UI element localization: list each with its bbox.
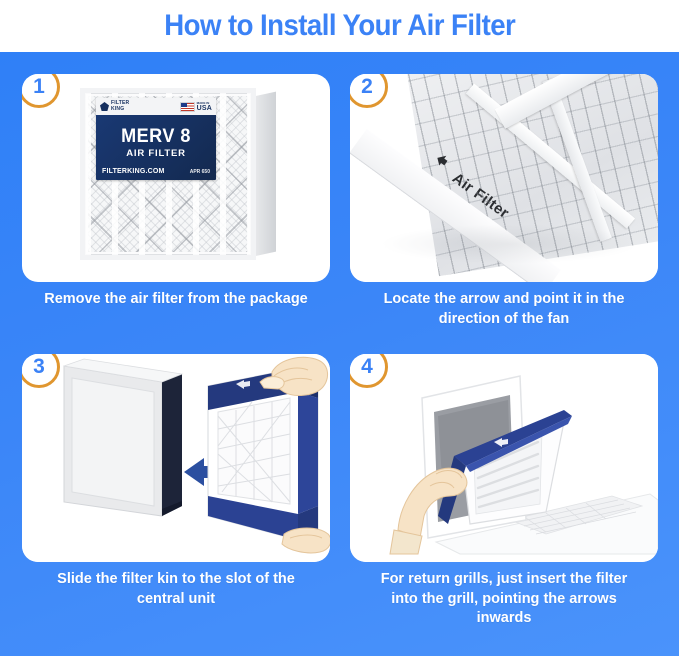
step-1: FILTER KING MADE IN USA xyxy=(22,74,330,310)
website-text: FILTERKING.COM xyxy=(102,168,165,175)
step-4-caption: For return grills, just insert the filte… xyxy=(350,570,658,629)
drop-shadow xyxy=(380,224,640,264)
caption-line: central unit xyxy=(22,590,330,610)
brand-line-2: KING xyxy=(111,106,124,112)
step-3-caption: Slide the filter kin to the slot of the … xyxy=(22,570,330,609)
caption-line: into the grill, pointing the arrows xyxy=(350,590,658,610)
step-3-card: 3 xyxy=(22,354,330,562)
air-filter-product-image: FILTER KING MADE IN USA xyxy=(80,88,276,264)
filter-label-footer: FILTERKING.COM APR 650 xyxy=(102,168,210,175)
apr-code: APR 650 xyxy=(190,169,210,175)
brand-text: FILTER KING xyxy=(111,101,129,112)
slide-into-unit-illustration xyxy=(22,354,330,562)
crown-icon xyxy=(100,102,109,111)
step-3: 3 Slide the filter kin to the slot of th… xyxy=(22,354,330,609)
country-label: USA xyxy=(197,105,212,112)
steps-grid: FILTER KING MADE IN USA xyxy=(0,52,679,656)
hand-bottom xyxy=(282,528,330,553)
step-2-card: Air Filter AIRFLOW 2 xyxy=(350,74,658,282)
made-in-usa-badge: MADE IN USA xyxy=(180,102,212,112)
caption-line: Slide the filter kin to the slot of the xyxy=(22,570,330,590)
step-4-card: 4 xyxy=(350,354,658,562)
made-in-usa-text: MADE IN USA xyxy=(197,102,212,112)
caption-line: Locate the arrow and point it in the xyxy=(350,290,658,310)
caption-line: inwards xyxy=(350,609,658,629)
filter-label-header: FILTER KING MADE IN USA xyxy=(96,98,216,115)
filter-label: FILTER KING MADE IN USA xyxy=(96,98,216,180)
filter-side-face xyxy=(254,92,276,257)
label-subtitle: AIR FILTER xyxy=(96,148,216,159)
step-2-caption: Locate the arrow and point it in the dir… xyxy=(350,290,658,329)
infographic-page: How to Install Your Air Filter xyxy=(0,0,679,656)
merv-rating: MERV 8 xyxy=(99,126,213,148)
step-1-card: FILTER KING MADE IN USA xyxy=(22,74,330,282)
return-grill-illustration xyxy=(350,354,658,562)
filter-king-logo: FILTER KING xyxy=(100,101,129,112)
step-4: 4 For return grills, just insert the fil… xyxy=(350,354,658,629)
step-2: Air Filter AIRFLOW 2 Locate the arrow an… xyxy=(350,74,658,329)
title-bar: How to Install Your Air Filter xyxy=(0,0,679,52)
step-1-badge: 1 xyxy=(22,74,60,108)
central-unit xyxy=(64,359,182,516)
usa-flag-icon xyxy=(180,102,195,112)
illustration-svg xyxy=(22,354,330,562)
caption-line: For return grills, just insert the filte… xyxy=(350,570,658,590)
filter-corner-image: Air Filter AIRFLOW xyxy=(350,74,658,282)
illustration-svg xyxy=(350,354,658,562)
step-1-caption: Remove the air filter from the package xyxy=(22,290,330,310)
page-title: How to Install Your Air Filter xyxy=(164,9,515,43)
caption-line: direction of the fan xyxy=(350,310,658,330)
caption-line: Remove the air filter from the package xyxy=(22,290,330,310)
